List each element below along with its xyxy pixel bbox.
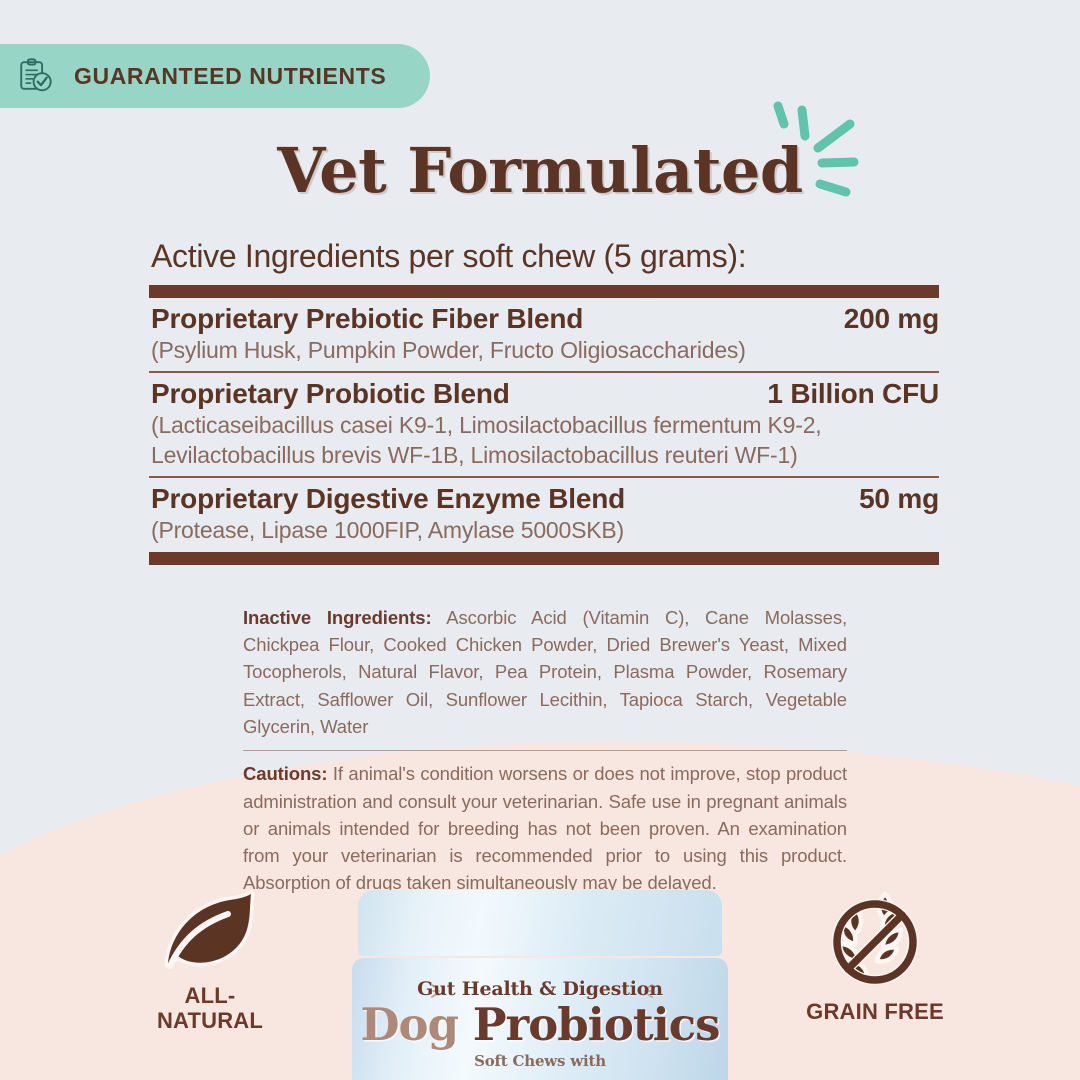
ingredient-amount: 200 mg [844, 303, 939, 335]
jar-label-text: Gut Health & Digestion Dog Probiotics So… [352, 978, 728, 1070]
jar-product-title: Dog Probiotics [352, 1001, 728, 1048]
ingredient-detail: (Lacticaseibacillus casei K9-1, Limosila… [151, 411, 939, 470]
sparkle-icon [762, 96, 872, 206]
rule-bottom [149, 552, 939, 565]
rule-top [149, 285, 939, 298]
ingredient-amount: 1 Billion CFU [767, 378, 939, 410]
leaf-icon [156, 886, 264, 974]
cautions-paragraph: Cautions: If animal's condition worsens … [243, 760, 847, 896]
jar-title-part1: Dog [361, 998, 473, 1051]
product-jar-image: Gut Health & Digestion Dog Probiotics So… [352, 890, 728, 1080]
jar-tagline: Gut Health & Digestion [352, 978, 728, 1000]
ingredient-name: Proprietary Digestive Enzyme Blend [151, 483, 625, 515]
page-title: Vet Formulated [277, 140, 803, 202]
cautions-label: Cautions: [243, 763, 327, 784]
cautions-text: If animal's condition worsens or does no… [243, 763, 847, 893]
ingredient-name: Proprietary Probiotic Blend [151, 378, 510, 410]
jar-subtitle: Soft Chews with [352, 1052, 728, 1070]
title-block: Vet Formulated [0, 140, 1080, 202]
claim-badge-grain-free: GRAIN FREE [770, 886, 980, 1025]
jar-title-part2: Probiotics [473, 998, 720, 1051]
inactive-ingredients-paragraph: Inactive Ingredients: Ascorbic Acid (Vit… [243, 604, 847, 740]
jar-lid [358, 890, 722, 956]
claim-badge-label: GRAIN FREE [770, 1000, 980, 1025]
fineprint-block: Inactive Ingredients: Ascorbic Acid (Vit… [243, 604, 847, 896]
clipboard-check-icon [16, 57, 54, 95]
ingredient-detail: (Protease, Lipase 1000FIP, Amylase 5000S… [151, 516, 939, 545]
claim-badge-all-natural: ALL- NATURAL [105, 886, 315, 1033]
guaranteed-nutrients-badge: GUARANTEED NUTRIENTS [0, 44, 430, 108]
badge-label: GUARANTEED NUTRIENTS [74, 63, 386, 90]
table-row: Proprietary Probiotic Blend 1 Billion CF… [149, 373, 939, 476]
claim-label-line1: ALL- [105, 984, 315, 1009]
claim-badge-label: ALL- NATURAL [105, 984, 315, 1033]
inactive-ingredients-label: Inactive Ingredients: [243, 607, 432, 628]
grain-free-icon [823, 886, 927, 990]
ingredient-amount: 50 mg [859, 483, 939, 515]
claim-label-line1: GRAIN FREE [770, 1000, 980, 1025]
product-label-page: GUARANTEED NUTRIENTS Vet Formulated Acti… [0, 0, 1080, 1080]
fineprint-divider [243, 750, 847, 752]
ingredient-name: Proprietary Prebiotic Fiber Blend [151, 303, 583, 335]
table-row: Proprietary Prebiotic Fiber Blend 200 mg… [149, 298, 939, 371]
active-ingredients-heading: Active Ingredients per soft chew (5 gram… [151, 238, 939, 275]
supplement-facts-panel: Active Ingredients per soft chew (5 gram… [149, 238, 939, 565]
ingredient-detail: (Psylium Husk, Pumpkin Powder, Fructo Ol… [151, 336, 939, 365]
table-row: Proprietary Digestive Enzyme Blend 50 mg… [149, 478, 939, 551]
claim-label-line2: NATURAL [105, 1009, 315, 1034]
